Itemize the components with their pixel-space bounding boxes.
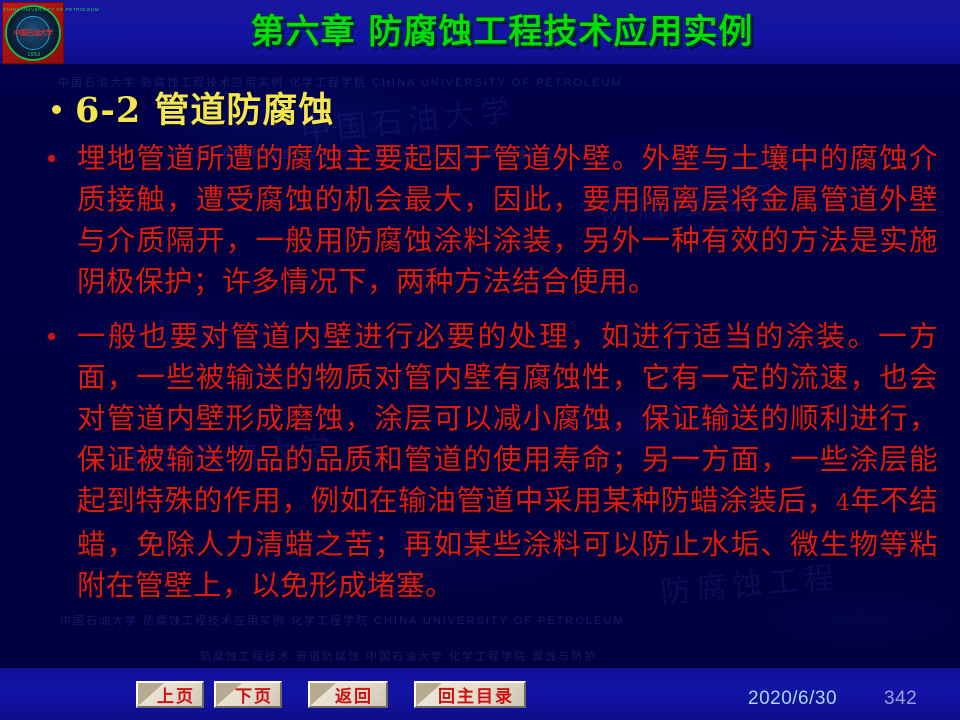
- paragraph-text: 一般也要对管道内壁进行必要的处理，如进行适当的涂装。一方面，一些被输送的物质对管…: [77, 316, 938, 606]
- paragraph-text-before: 一般也要对管道内壁进行必要的处理，如进行适当的涂装。一方面，一些被输送的物质对管…: [77, 320, 938, 517]
- prev-page-button-label: 上页: [138, 683, 202, 706]
- main-menu-button-label: 回主目录: [416, 683, 524, 706]
- logo-top-text: CHINA UNIVERSITY OF PETROLEUM: [3, 7, 65, 12]
- slide-content: 6-2 管道防腐蚀 埋地管道所遭的腐蚀主要起因于管道外壁。外壁与土壤中的腐蚀介质…: [0, 64, 960, 664]
- body-paragraph: 一般也要对管道内壁进行必要的处理，如进行适当的涂装。一方面，一些被输送的物质对管…: [48, 316, 938, 606]
- university-logo: CHINA UNIVERSITY OF PETROLEUM 中国石油大学 195…: [2, 2, 64, 64]
- next-page-button[interactable]: 下页: [214, 681, 282, 708]
- presentation-slide: 中国石油大学 防腐蚀工程技术应用实例 化学工程学院 CHINA UNIVERSI…: [0, 0, 960, 720]
- main-menu-button[interactable]: 回主目录: [414, 681, 526, 708]
- logo-year: 1953: [3, 52, 65, 58]
- back-button[interactable]: 返回: [308, 681, 388, 708]
- page-number: 342: [884, 688, 917, 710]
- paragraph-text: 埋地管道所遭的腐蚀主要起因于管道外壁。外壁与土壤中的腐蚀介质接触，遭受腐蚀的机会…: [77, 138, 938, 302]
- section-heading: 6-2 管道防腐蚀: [52, 82, 334, 133]
- body-paragraph: 埋地管道所遭的腐蚀主要起因于管道外壁。外壁与土壤中的腐蚀介质接触，遭受腐蚀的机会…: [48, 138, 938, 302]
- back-button-label: 返回: [310, 683, 386, 706]
- next-page-button-label: 下页: [216, 683, 280, 706]
- bullet-icon: [48, 333, 55, 340]
- section-heading-label: 6-2 管道防腐蚀: [75, 82, 334, 133]
- prev-page-button[interactable]: 上页: [136, 681, 204, 708]
- header-band: 第六章 防腐蚀工程技术应用实例: [0, 0, 960, 64]
- logo-center-text: 中国石油大学: [14, 28, 53, 38]
- paragraph-emphasis-number: 4: [836, 491, 851, 516]
- footer-date: 2020/6/30: [748, 688, 837, 710]
- page-title: 第六章 防腐蚀工程技术应用实例: [0, 4, 960, 53]
- bullet-icon: [52, 105, 61, 114]
- bullet-icon: [48, 155, 55, 162]
